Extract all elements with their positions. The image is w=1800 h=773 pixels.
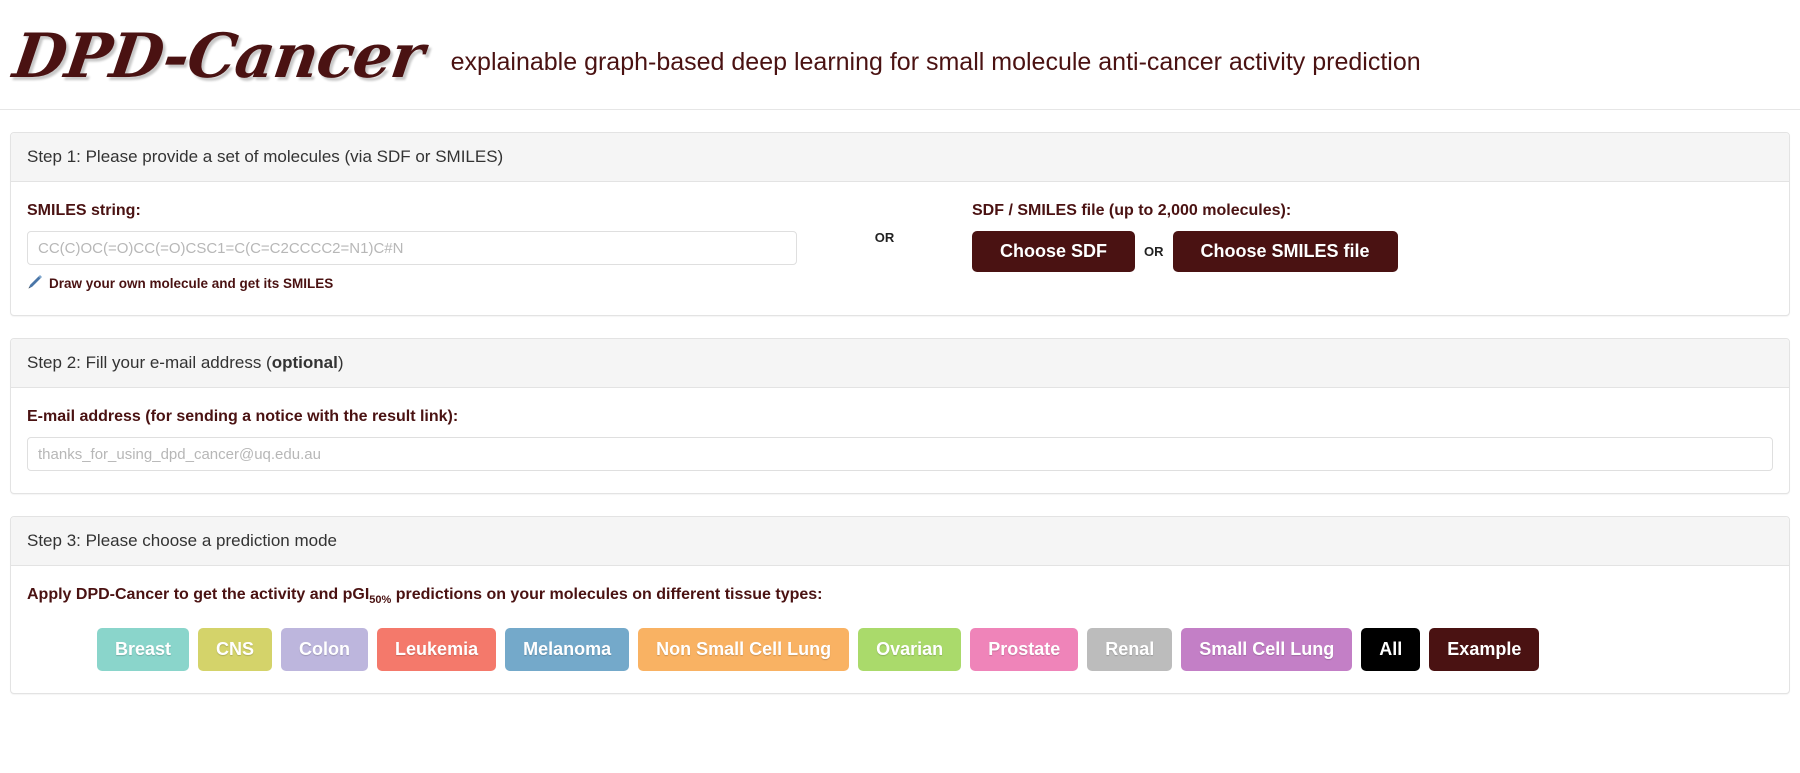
site-header: DPD-Cancer explainable graph-based deep … <box>0 0 1800 110</box>
pencil-icon <box>27 274 43 293</box>
inline-or-label: OR <box>1135 244 1173 259</box>
tissue-button-non-small-cell-lung[interactable]: Non Small Cell Lung <box>638 628 849 671</box>
prediction-mode-description: Apply DPD-Cancer to get the activity and… <box>27 586 1773 606</box>
step1-card: Step 1: Please provide a set of molecule… <box>10 132 1790 316</box>
tissue-button-breast[interactable]: Breast <box>97 628 189 671</box>
step1-header: Step 1: Please provide a set of molecule… <box>11 133 1789 182</box>
tissue-button-renal[interactable]: Renal <box>1087 628 1172 671</box>
tissue-button-row: BreastCNSColonLeukemiaMelanomaNon Small … <box>27 628 1773 671</box>
email-input[interactable] <box>27 437 1773 471</box>
tissue-button-prostate[interactable]: Prostate <box>970 628 1078 671</box>
step2-body: E-mail address (for sending a notice wit… <box>11 388 1789 493</box>
step3-body: Apply DPD-Cancer to get the activity and… <box>11 566 1789 693</box>
tissue-button-all[interactable]: All <box>1361 628 1420 671</box>
smiles-column: SMILES string: Draw your own molecule an… <box>27 202 797 293</box>
tissue-button-colon[interactable]: Colon <box>281 628 368 671</box>
step2-title-suffix: ) <box>338 353 344 372</box>
site-tagline: explainable graph-based deep learning fo… <box>451 36 1421 77</box>
step2-title-prefix: Step 2: Fill your e-mail address ( <box>27 353 272 372</box>
tissue-button-example[interactable]: Example <box>1429 628 1539 671</box>
tissue-button-leukemia[interactable]: Leukemia <box>377 628 496 671</box>
tissue-button-cns[interactable]: CNS <box>198 628 272 671</box>
step3-header: Step 3: Please choose a prediction mode <box>11 517 1789 566</box>
smiles-label: SMILES string: <box>27 202 797 220</box>
page-content: Step 1: Please provide a set of molecule… <box>0 132 1800 694</box>
tissue-button-ovarian[interactable]: Ovarian <box>858 628 961 671</box>
step2-card: Step 2: Fill your e-mail address (option… <box>10 338 1790 494</box>
file-column: SDF / SMILES file (up to 2,000 molecules… <box>972 202 1773 272</box>
choose-smiles-file-button[interactable]: Choose SMILES file <box>1173 231 1398 272</box>
draw-molecule-link[interactable]: Draw your own molecule and get its SMILE… <box>27 274 333 293</box>
mode-desc-subscript: 50% <box>369 594 391 606</box>
file-label: SDF / SMILES file (up to 2,000 molecules… <box>972 202 1773 220</box>
or-separator: OR <box>797 202 972 245</box>
tissue-button-melanoma[interactable]: Melanoma <box>505 628 629 671</box>
smiles-input[interactable] <box>27 231 797 265</box>
choose-sdf-button[interactable]: Choose SDF <box>972 231 1135 272</box>
mode-desc-pre: Apply DPD-Cancer to get the activity and… <box>27 586 369 603</box>
step2-title-optional: optional <box>272 353 338 372</box>
mode-desc-post: predictions on your molecules on differe… <box>391 586 822 603</box>
tissue-button-small-cell-lung[interactable]: Small Cell Lung <box>1181 628 1352 671</box>
step3-card: Step 3: Please choose a prediction mode … <box>10 516 1790 694</box>
site-logo: DPD-Cancer <box>3 21 428 92</box>
draw-molecule-label: Draw your own molecule and get its SMILE… <box>49 276 333 291</box>
step1-body: SMILES string: Draw your own molecule an… <box>11 182 1789 315</box>
step2-header: Step 2: Fill your e-mail address (option… <box>11 339 1789 388</box>
or-label: OR <box>875 230 895 245</box>
email-label: E-mail address (for sending a notice wit… <box>27 408 1773 426</box>
